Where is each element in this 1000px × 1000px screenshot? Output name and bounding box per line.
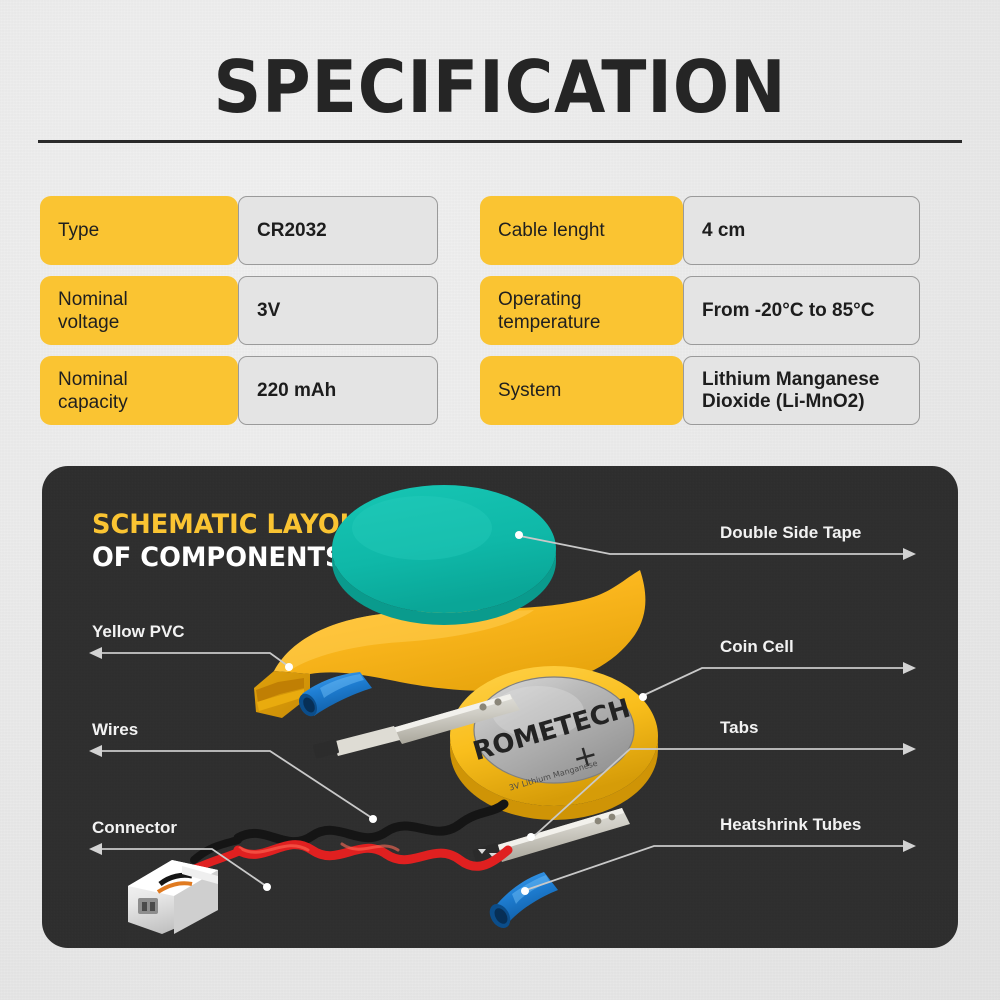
- spec-value-system: Lithium Manganese Dioxide (Li-MnO2): [683, 356, 920, 425]
- spec-key-nominal-capacity: Nominal capacity: [40, 356, 238, 425]
- callout-label-double-side-tape: Double Side Tape: [720, 522, 861, 543]
- column-gap: [438, 276, 480, 345]
- callout-label-yellow-pvc: Yellow PVC: [92, 621, 185, 642]
- column-gap: [438, 356, 480, 425]
- callout-label-wires: Wires: [92, 719, 138, 740]
- spec-key-operating-temperature: Operating temperature: [480, 276, 683, 345]
- spec-value-cable-lenght: 4 cm: [683, 196, 920, 265]
- title-divider: [38, 140, 962, 143]
- callout-label-connector: Connector: [92, 817, 177, 838]
- page-title: SPECIFICATION: [40, 48, 960, 126]
- spec-value-nominal-capacity: 220 mAh: [238, 356, 438, 425]
- callout-label-tabs: Tabs: [720, 717, 758, 738]
- callout-label-coin-cell: Coin Cell: [720, 636, 794, 657]
- spec-value-operating-temperature: From -20°C to 85°C: [683, 276, 920, 345]
- spec-key-nominal-voltage: Nominal voltage: [40, 276, 238, 345]
- callout-label-heatshrink-tubes: Heatshrink Tubes: [720, 814, 861, 835]
- spec-key-type: Type: [40, 196, 238, 265]
- spec-key-system: System: [480, 356, 683, 425]
- leader-arrowheads-right: [903, 548, 916, 852]
- schematic-panel: SCHEMATIC LAYOUT OF COMPONENTS: [42, 466, 958, 948]
- spec-value-nominal-voltage: 3V: [238, 276, 438, 345]
- spec-value-type: CR2032: [238, 196, 438, 265]
- specification-table: Type CR2032 Cable lenght 4 cm Nominal vo…: [40, 196, 960, 425]
- column-gap: [438, 196, 480, 265]
- spec-key-cable-lenght: Cable lenght: [480, 196, 683, 265]
- leader-anchor-dots: [263, 531, 647, 895]
